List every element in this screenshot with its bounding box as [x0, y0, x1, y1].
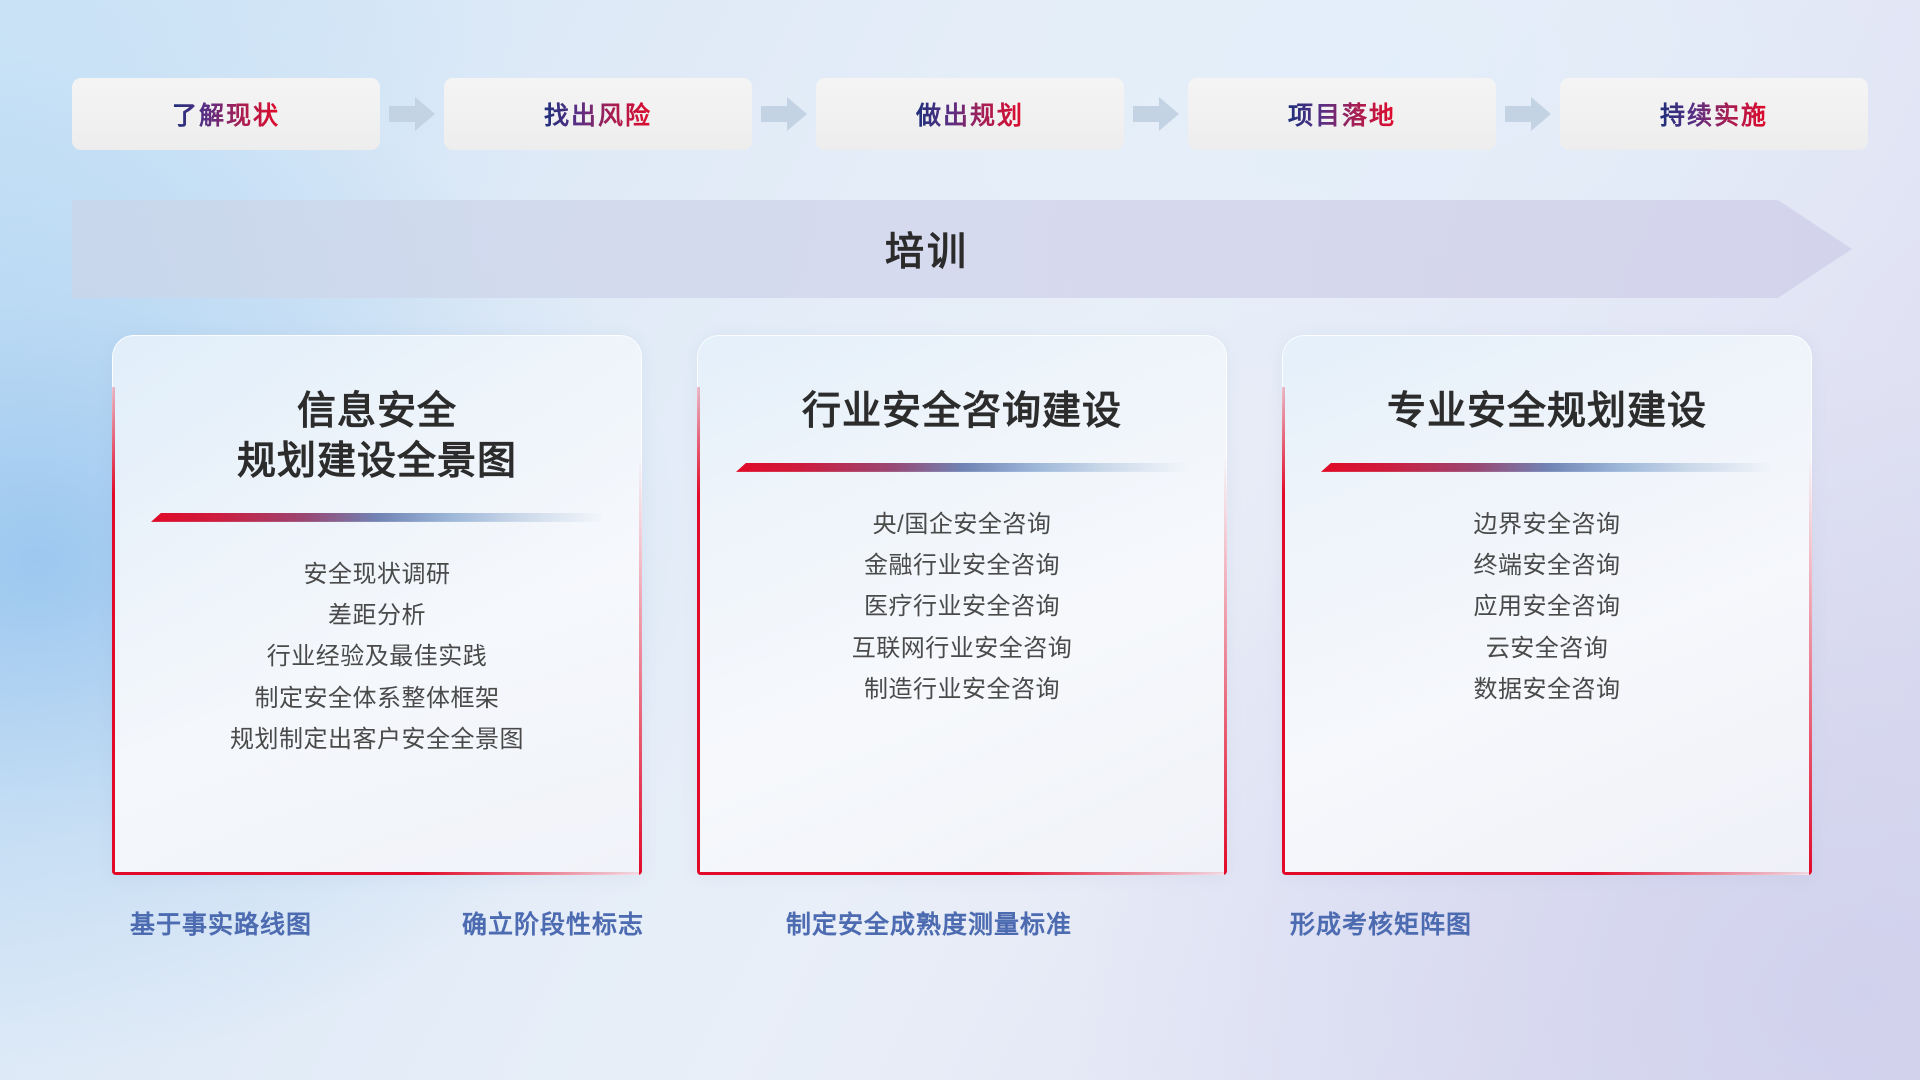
step-box-1[interactable]: 了解现状	[72, 78, 380, 150]
list-item: 制造行业安全咨询	[697, 669, 1227, 710]
caption-milestones: 确立阶段性标志	[462, 905, 644, 941]
list-item: 云安全咨询	[1282, 628, 1812, 669]
banner-title: 培训	[72, 200, 1852, 298]
card-industry-security-consulting[interactable]: 行业安全咨询建设 央/国企安全咨询 金融行业安全咨询 医疗行业安全咨询 互联网行…	[697, 335, 1227, 875]
step-label: 持续实施	[1660, 96, 1768, 132]
arrow-right-icon	[1496, 78, 1560, 150]
arrow-right-icon	[752, 78, 816, 150]
card-title: 行业安全咨询建设	[697, 387, 1227, 437]
list-item: 安全现状调研	[112, 554, 642, 595]
list-item: 医疗行业安全咨询	[697, 586, 1227, 627]
arrow-right-icon	[380, 78, 444, 150]
card-accent-right	[1224, 455, 1227, 875]
cards-row: 信息安全 规划建设全景图 安全现状调研 差距分析 行业经验及最佳实践 制定安全体…	[112, 335, 1812, 875]
process-steps-row: 了解现状 找出风险 做出规划 项目落地 持续实施	[72, 78, 1852, 150]
card-title: 专业安全规划建设	[1282, 387, 1812, 437]
card-divider	[736, 463, 1188, 472]
caption-maturity-standard: 制定安全成熟度测量标准	[786, 905, 1072, 941]
caption-roadmap: 基于事实路线图	[130, 905, 312, 941]
step-box-5[interactable]: 持续实施	[1560, 78, 1868, 150]
card-accent-bottom	[697, 872, 1227, 875]
card-information-security-panorama[interactable]: 信息安全 规划建设全景图 安全现状调研 差距分析 行业经验及最佳实践 制定安全体…	[112, 335, 642, 875]
card-accent-right	[1809, 455, 1812, 875]
caption-assessment-matrix: 形成考核矩阵图	[1290, 905, 1472, 941]
step-box-3[interactable]: 做出规划	[816, 78, 1124, 150]
step-box-4[interactable]: 项目落地	[1188, 78, 1496, 150]
card-item-list: 安全现状调研 差距分析 行业经验及最佳实践 制定安全体系整体框架 规划制定出客户…	[112, 554, 642, 760]
step-label: 了解现状	[172, 96, 280, 132]
slide-canvas: 了解现状 找出风险 做出规划 项目落地 持续实施 培训	[0, 0, 1920, 1080]
card-item-list: 央/国企安全咨询 金融行业安全咨询 医疗行业安全咨询 互联网行业安全咨询 制造行…	[697, 504, 1227, 710]
list-item: 数据安全咨询	[1282, 669, 1812, 710]
arrow-right-icon	[1124, 78, 1188, 150]
card-divider	[151, 513, 603, 522]
list-item: 互联网行业安全咨询	[697, 628, 1227, 669]
step-label: 找出风险	[544, 96, 652, 132]
list-item: 央/国企安全咨询	[697, 504, 1227, 545]
card-accent-left	[112, 387, 115, 875]
list-item: 应用安全咨询	[1282, 586, 1812, 627]
card-accent-left	[697, 387, 700, 875]
list-item: 边界安全咨询	[1282, 504, 1812, 545]
step-label: 做出规划	[916, 96, 1024, 132]
card-accent-left	[1282, 387, 1285, 875]
list-item: 终端安全咨询	[1282, 545, 1812, 586]
bottom-captions-row: 基于事实路线图 确立阶段性标志 制定安全成熟度测量标准 形成考核矩阵图	[0, 905, 1920, 959]
card-accent-bottom	[1282, 872, 1812, 875]
card-accent-right	[639, 455, 642, 875]
list-item: 行业经验及最佳实践	[112, 636, 642, 677]
card-divider	[1321, 463, 1773, 472]
card-item-list: 边界安全咨询 终端安全咨询 应用安全咨询 云安全咨询 数据安全咨询	[1282, 504, 1812, 710]
training-banner: 培训	[72, 200, 1852, 298]
list-item: 金融行业安全咨询	[697, 545, 1227, 586]
card-accent-bottom	[112, 872, 642, 875]
list-item: 规划制定出客户安全全景图	[112, 719, 642, 760]
card-title: 信息安全 规划建设全景图	[112, 387, 642, 487]
card-professional-security-planning[interactable]: 专业安全规划建设 边界安全咨询 终端安全咨询 应用安全咨询 云安全咨询 数据安全…	[1282, 335, 1812, 875]
step-box-2[interactable]: 找出风险	[444, 78, 752, 150]
step-label: 项目落地	[1288, 96, 1396, 132]
list-item: 差距分析	[112, 595, 642, 636]
list-item: 制定安全体系整体框架	[112, 678, 642, 719]
